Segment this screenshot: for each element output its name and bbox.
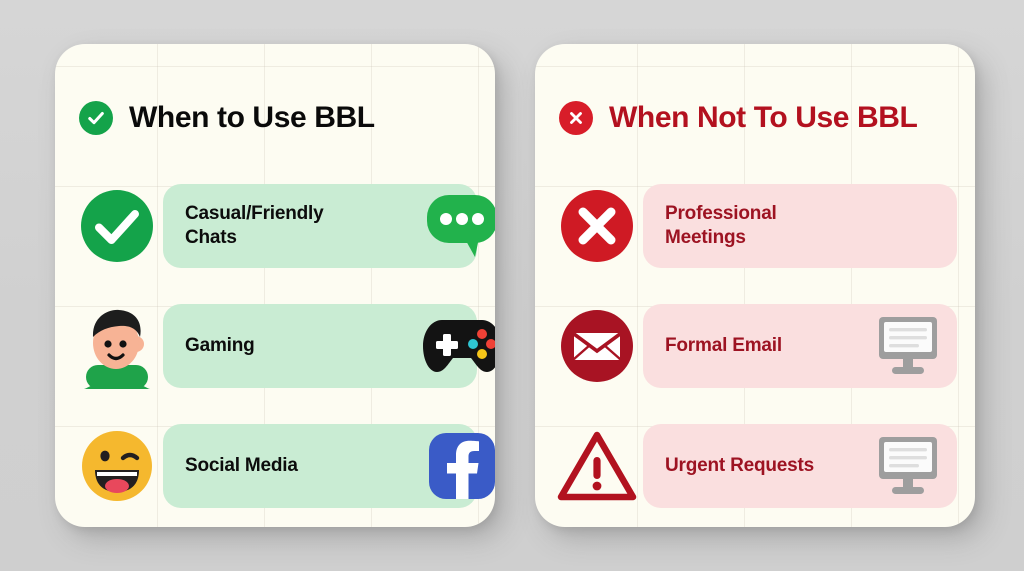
pill-formal-email[interactable]: Formal Email <box>643 304 957 388</box>
facebook-icon <box>423 427 495 505</box>
page-title: When Not To Use BBL <box>609 102 917 134</box>
list-item-label: Formal Email <box>665 334 782 358</box>
check-circle-icon <box>77 186 157 266</box>
list-item[interactable]: Casual/Friendly Chats <box>55 166 495 286</box>
list-item[interactable]: Formal Email <box>535 286 975 406</box>
panel-when-not-to-use: When Not To Use BBL Professional Meeting… <box>535 44 975 527</box>
list-item[interactable]: Professional Meetings <box>535 166 975 286</box>
list-item-label: Professional Meetings <box>665 202 855 249</box>
pill-gaming[interactable]: Gaming <box>163 304 477 388</box>
row-list-when-to-use: Casual/Friendly Chats <box>55 156 495 526</box>
monitor-icon <box>869 427 947 505</box>
panel-header-when-not-to-use: When Not To Use BBL <box>535 80 975 156</box>
panel-when-to-use: When to Use BBL Casual/Friendly Chats <box>55 44 495 527</box>
winking-smiley-emoji-icon <box>77 426 157 506</box>
monitor-icon <box>869 307 947 385</box>
pill-casual-friendly-chats[interactable]: Casual/Friendly Chats <box>163 184 477 268</box>
gamepad-icon <box>423 307 495 385</box>
list-item[interactable]: Gaming <box>55 286 495 406</box>
pill-professional-meetings[interactable]: Professional Meetings <box>643 184 957 268</box>
page-title: When to Use BBL <box>129 102 375 134</box>
list-item-label: Gaming <box>185 334 255 358</box>
envelope-circle-icon <box>557 306 637 386</box>
comparison-infographic: When to Use BBL Casual/Friendly Chats <box>0 0 1024 571</box>
x-circle-icon <box>557 186 637 266</box>
pill-social-media[interactable]: Social Media <box>163 424 477 508</box>
row-list-when-not-to-use: Professional Meetings Formal E <box>535 156 975 526</box>
person-emoji-icon <box>77 306 157 386</box>
list-item[interactable]: Urgent Requests <box>535 406 975 526</box>
list-item-label: Urgent Requests <box>665 454 814 478</box>
pill-urgent-requests[interactable]: Urgent Requests <box>643 424 957 508</box>
warning-triangle-icon <box>557 426 637 506</box>
panel-header-when-to-use: When to Use BBL <box>55 80 495 156</box>
check-circle-icon <box>79 101 113 135</box>
x-circle-icon <box>559 101 593 135</box>
list-item[interactable]: Social Media <box>55 406 495 526</box>
list-item-label: Social Media <box>185 454 298 478</box>
chat-bubble-icon <box>423 187 495 265</box>
list-item-label: Casual/Friendly Chats <box>185 202 375 249</box>
